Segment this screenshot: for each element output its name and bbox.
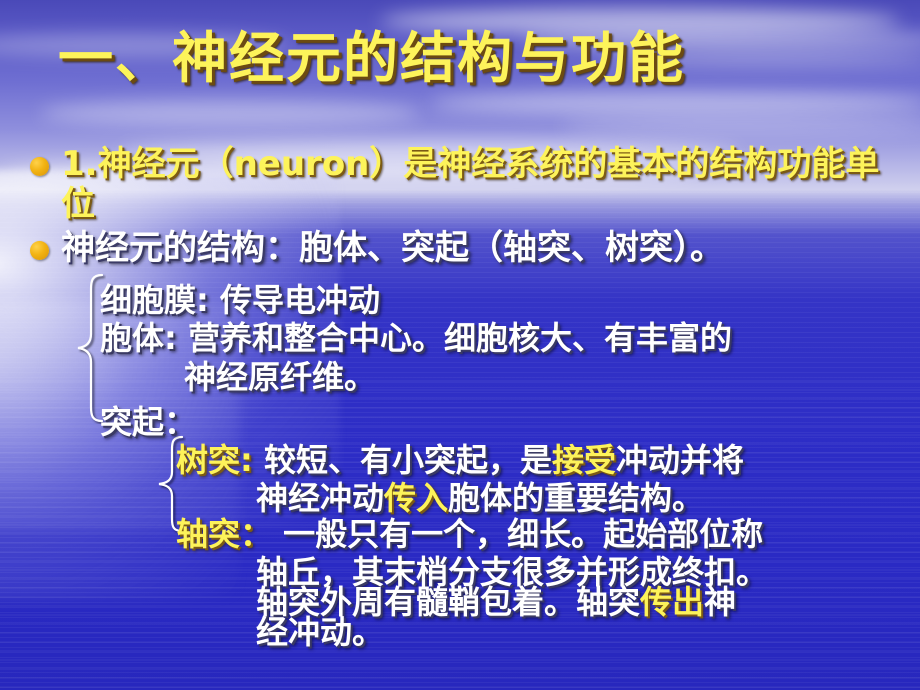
- axon-l3-highlight: 传出: [640, 583, 704, 621]
- bullet-2-text: 神经元的结构：胞体、突起（轴突、树突）。: [61, 228, 724, 268]
- dendrite-l2-pre: 神经冲动: [256, 479, 384, 517]
- dendrite-l2-post: 胞体的重要结构。: [448, 479, 704, 517]
- label-cell-membrane: 细胞膜:: [100, 281, 209, 319]
- dendrite-l1-pre: 较短、有小突起，是: [253, 441, 552, 479]
- presentation-slide: 一、神经元的结构与功能 1.神经元（neuron）是神经系统的基本的结构功能单位…: [0, 0, 920, 690]
- dendrite-l1-post: 冲动并将: [616, 441, 744, 479]
- bullet-2-seg-b: （轴突、树突）。: [469, 228, 724, 268]
- label-dendrite: 树突:: [176, 441, 253, 479]
- axon-l1: 一般只有一个，细长。起始部位称: [272, 515, 763, 553]
- body-soma: 营养和整合中心。细胞核大、有丰富的: [177, 319, 732, 357]
- bullet-1-text: 1.神经元（neuron）是神经系统的基本的结构功能单位: [61, 144, 910, 224]
- axon-l3-post: 神: [704, 583, 736, 621]
- line-axon-1: 轴突： 一般只有一个，细长。起始部位称: [176, 515, 763, 553]
- bullet-2-seg-a: 神经元的结构：胞体、: [61, 228, 401, 268]
- bullet-1-seg-neuron: neuron: [234, 144, 370, 184]
- bullet-dot-icon: [30, 241, 49, 260]
- line-axon-4: 经冲动。: [256, 613, 384, 651]
- bullet-item-2: 神经元的结构：胞体、突起（轴突、树突）。: [30, 228, 910, 268]
- bullet-2-seg-tuqi: 突起: [401, 228, 469, 268]
- bullet-1-seg-a: 神经元（: [98, 144, 234, 184]
- line-soma: 胞体: 营养和整合中心。细胞核大、有丰富的: [100, 319, 732, 357]
- line-dendrite-2: 神经冲动传入胞体的重要结构。: [256, 479, 704, 517]
- label-axon: 轴突：: [176, 515, 272, 553]
- bullet-1-seg-number: 1.: [61, 144, 98, 184]
- dendrite-l1-highlight: 接受: [552, 441, 616, 479]
- line-soma-cont: 神经原纤维。: [184, 358, 376, 396]
- slide-title: 一、神经元的结构与功能: [58, 26, 858, 90]
- line-dendrite-1: 树突: 较短、有小突起，是接受冲动并将: [176, 441, 744, 479]
- body-cell-membrane: 传导电冲动: [209, 281, 380, 319]
- bullet-dot-icon: [30, 157, 49, 176]
- label-soma: 胞体:: [100, 319, 177, 357]
- line-cell-membrane: 细胞膜: 传导电冲动: [100, 281, 380, 319]
- line-processes-label: 突起：: [100, 403, 196, 441]
- bullet-item-1: 1.神经元（neuron）是神经系统的基本的结构功能单位: [30, 144, 910, 224]
- dendrite-l2-highlight: 传入: [384, 479, 448, 517]
